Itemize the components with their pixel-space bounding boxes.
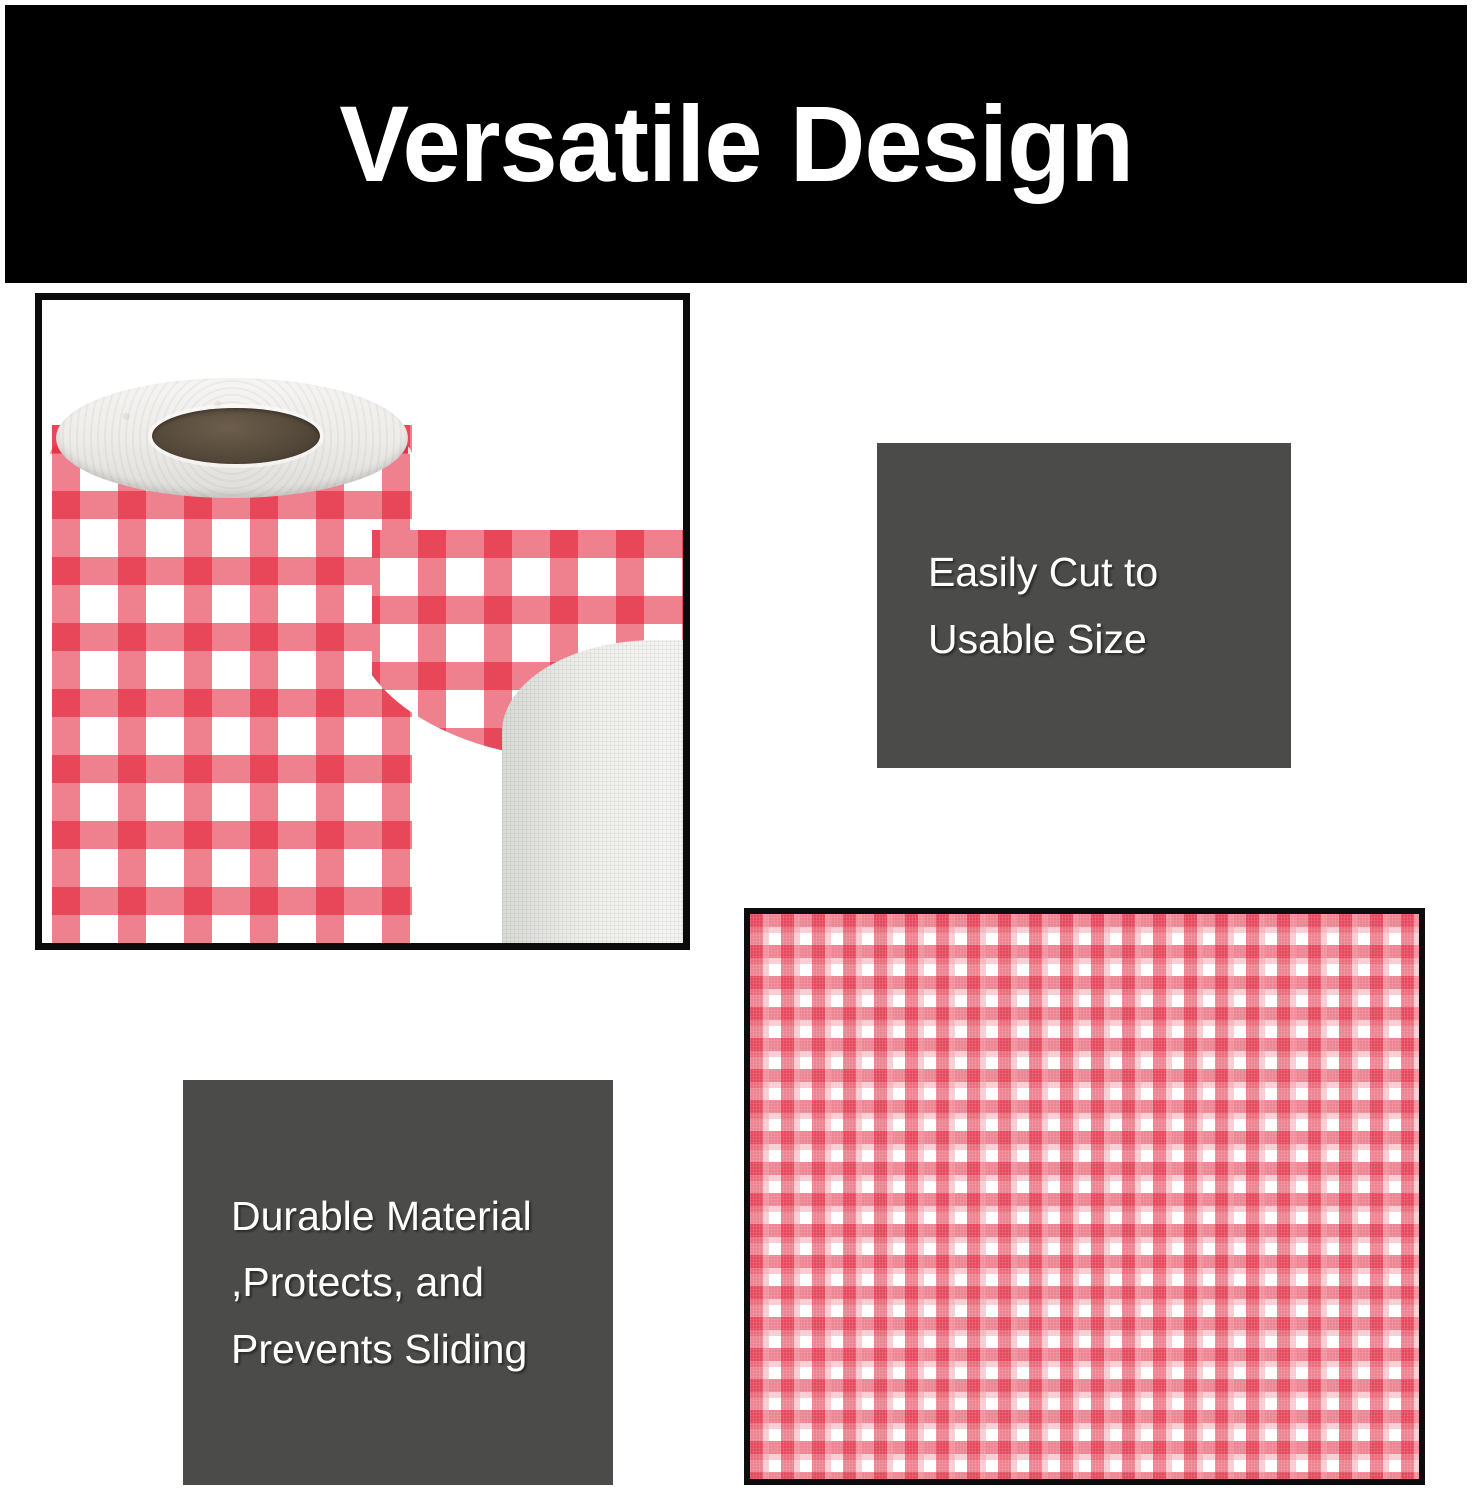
shelf-liner-roll-body (52, 425, 412, 950)
product-photo-image (42, 300, 683, 943)
cardboard-core (152, 408, 320, 464)
fabric-swatch-frame (744, 908, 1425, 1485)
product-feature-graphic: Versatile Design Easily Cut to Usable Si… (0, 0, 1475, 1500)
page-title: Versatile Design (339, 90, 1133, 198)
roll-top-coil (56, 378, 408, 498)
flap-nonslip-backing (502, 640, 690, 950)
caption-text-durable-material: Durable Material ,Protects, and Prevents… (231, 1183, 597, 1382)
caption-text-easily-cut: Easily Cut to Usable Size (928, 539, 1271, 672)
product-photo-frame (35, 293, 690, 950)
caption-box-durable-material: Durable Material ,Protects, and Prevents… (183, 1080, 613, 1485)
shelf-liner-unrolled-flap (372, 530, 690, 950)
header-banner: Versatile Design (5, 5, 1467, 283)
caption-box-easily-cut: Easily Cut to Usable Size (877, 443, 1291, 768)
gingham-pattern (750, 914, 1419, 1479)
